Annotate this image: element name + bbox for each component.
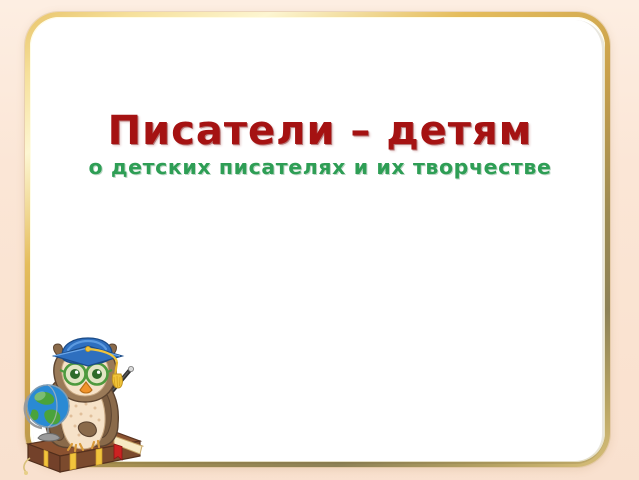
slide-text-block: Писатели – детям о детских писателях и и…: [40, 110, 600, 179]
owl-professor-illustration: [18, 332, 158, 477]
slide-canvas: Писатели – детям о детских писателях и и…: [0, 0, 639, 480]
slide-title: Писатели – детям: [40, 110, 600, 152]
slide-subtitle: о детских писателях и их творчестве: [40, 156, 600, 179]
